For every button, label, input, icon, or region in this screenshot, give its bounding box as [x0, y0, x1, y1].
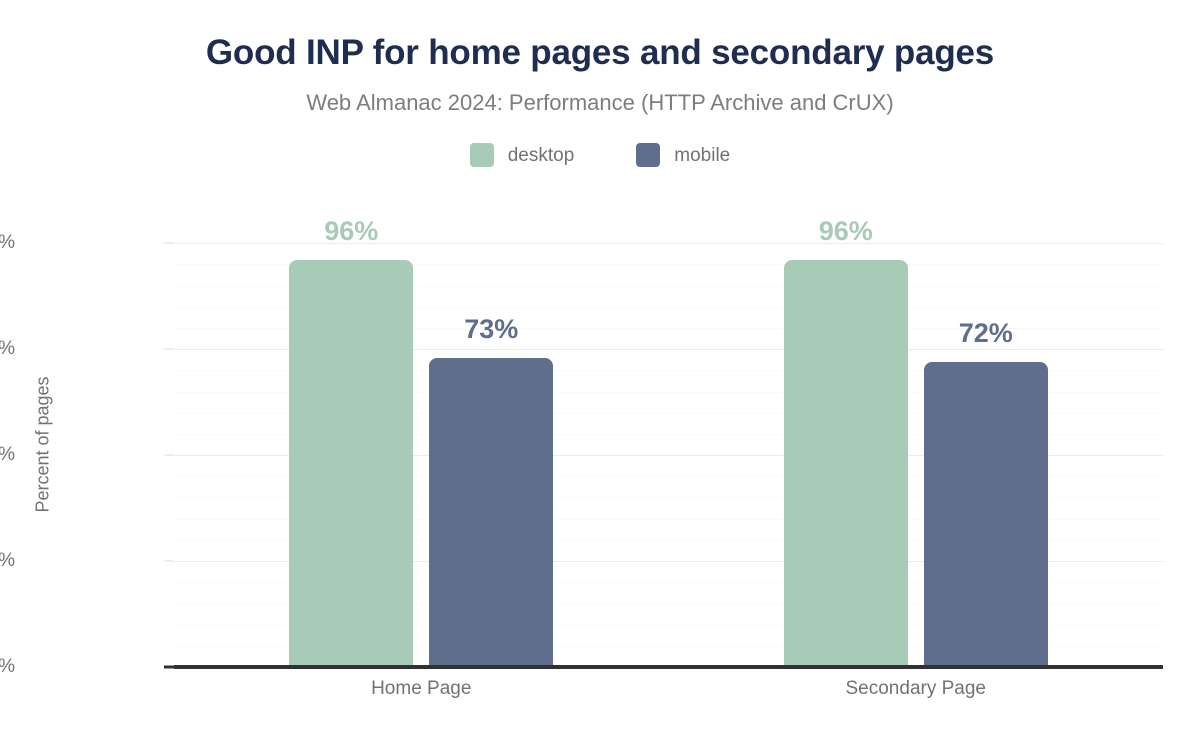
- y-axis-tick-label: 0%: [0, 656, 15, 678]
- bar-value-label: 96%: [324, 216, 378, 247]
- chart-title: Good INP for home pages and secondary pa…: [0, 33, 1200, 73]
- bar-mobile-home-page[interactable]: [429, 358, 553, 667]
- x-axis-tick-label: Secondary Page: [846, 678, 987, 700]
- y-axis-tick-mark: [164, 455, 174, 456]
- y-axis-tick-label: 25%: [0, 550, 15, 572]
- y-axis-tick-mark: [164, 666, 174, 669]
- y-axis-tick-mark: [164, 243, 174, 244]
- bar-value-label: 72%: [959, 318, 1013, 349]
- chart-legend: desktop mobile: [0, 143, 1200, 167]
- legend-item-desktop[interactable]: desktop: [470, 143, 575, 167]
- x-axis-tick-label: Home Page: [371, 678, 471, 700]
- plot-area: 96%73%96%72%: [174, 222, 1163, 667]
- legend-label-desktop: desktop: [508, 146, 575, 165]
- y-axis-tick-mark: [164, 349, 174, 350]
- legend-swatch-mobile: [636, 143, 660, 167]
- bar-desktop-secondary-page[interactable]: [784, 260, 908, 667]
- gridline: [174, 243, 1163, 244]
- y-axis-tick-label: 50%: [0, 444, 15, 466]
- legend-swatch-desktop: [470, 143, 494, 167]
- legend-label-mobile: mobile: [674, 146, 730, 165]
- y-axis-title-label: Percent of pages: [33, 376, 54, 512]
- y-axis-tick-label: 100%: [0, 232, 15, 254]
- legend-item-mobile[interactable]: mobile: [636, 143, 730, 167]
- bar-mobile-secondary-page[interactable]: [924, 362, 1048, 667]
- bar-value-label: 96%: [819, 216, 873, 247]
- bar-value-label: 73%: [464, 314, 518, 345]
- bar-desktop-home-page[interactable]: [289, 260, 413, 667]
- bar-chart: Good INP for home pages and secondary pa…: [0, 0, 1200, 742]
- x-axis-baseline: [174, 665, 1163, 669]
- y-axis-tick-label: 75%: [0, 338, 15, 360]
- chart-subtitle: Web Almanac 2024: Performance (HTTP Arch…: [0, 90, 1200, 116]
- y-axis-tick-mark: [164, 561, 174, 562]
- y-axis-title: Percent of pages: [30, 222, 56, 667]
